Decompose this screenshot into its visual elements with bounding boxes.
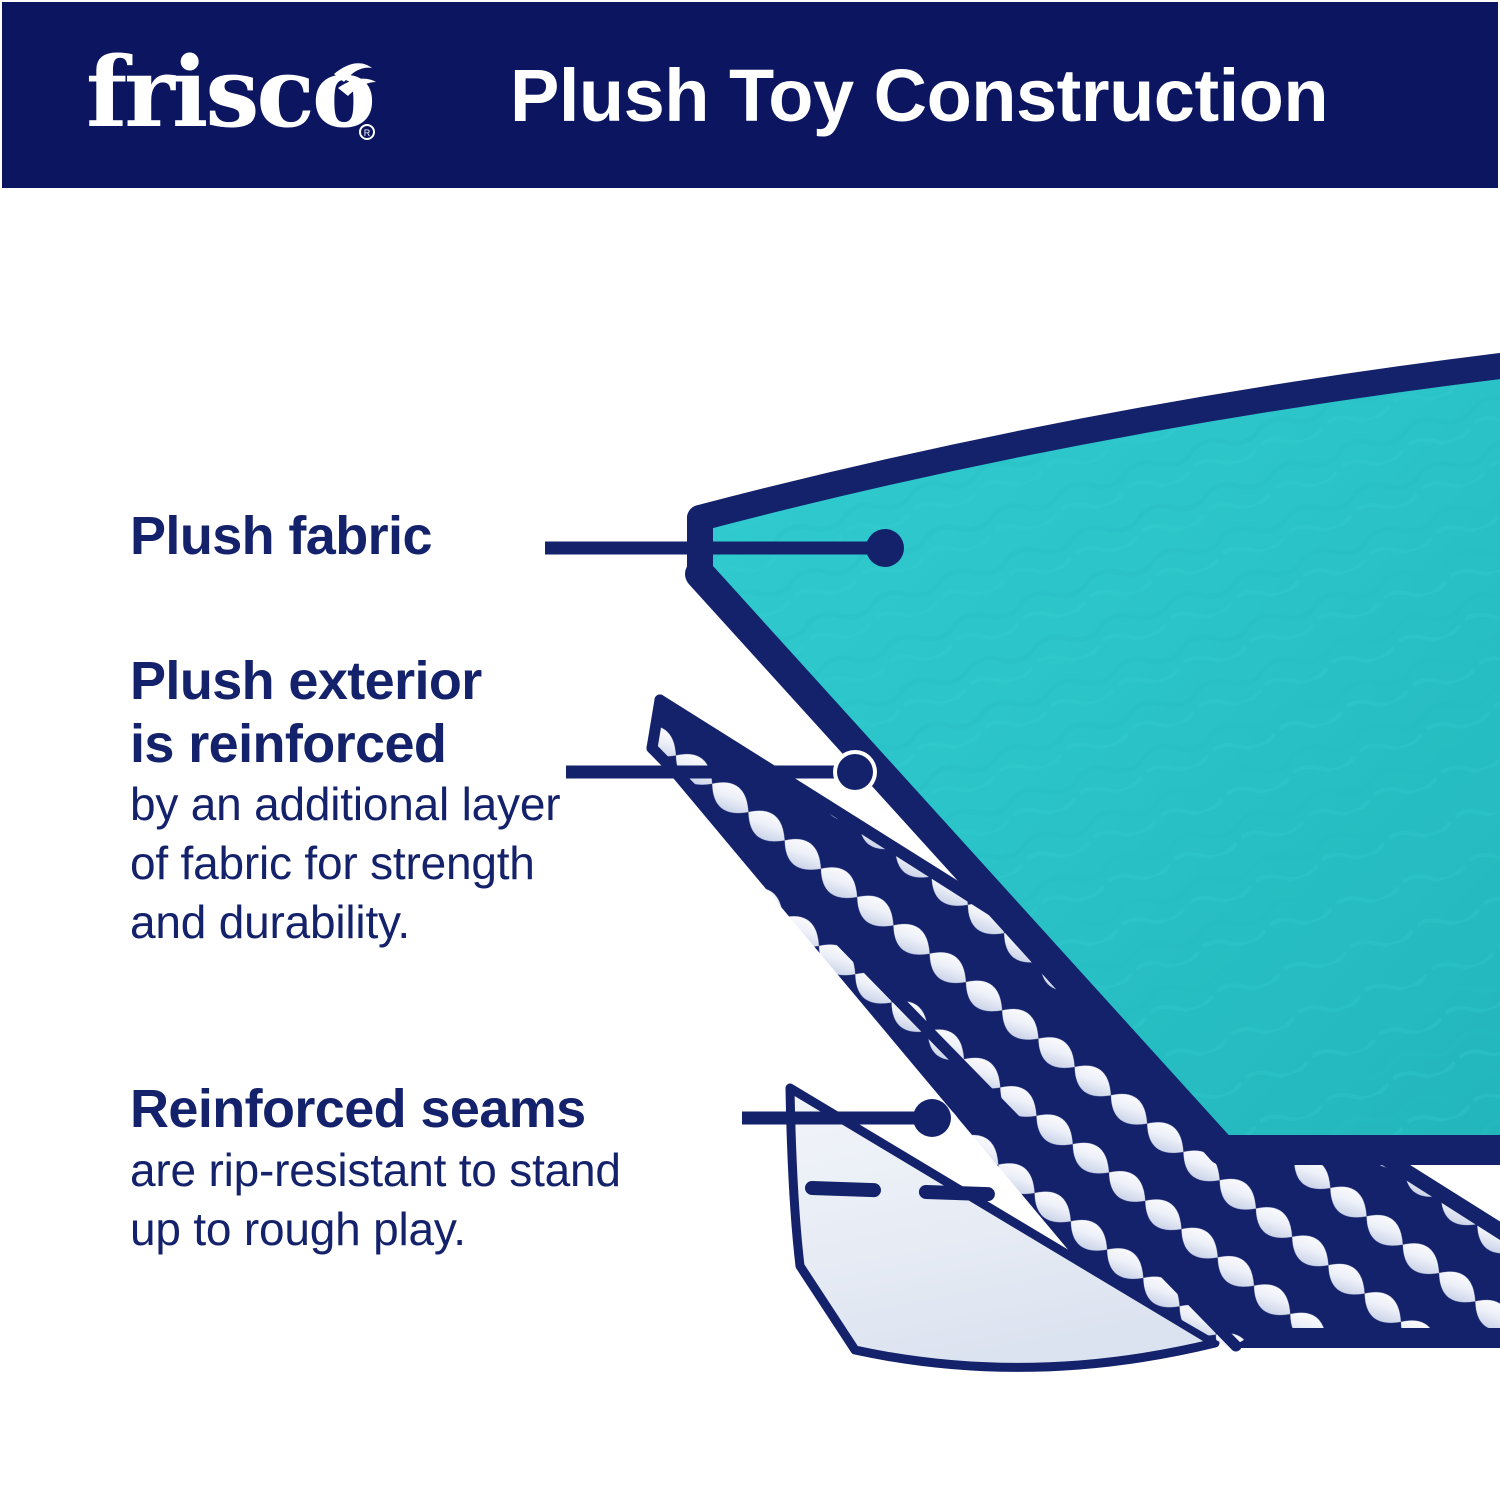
- plush-fabric-panel: [700, 366, 1500, 1150]
- registered-trademark-glyph: R: [364, 128, 371, 138]
- callout-body: are rip-resistant to stand up to rough p…: [130, 1141, 621, 1259]
- header-bar: frisco R Plush Toy Construction: [2, 2, 1498, 188]
- page-title: Plush Toy Construction: [510, 2, 1328, 188]
- callout-plush-exterior-reinforced: Plush exterior is reinforced by an addit…: [130, 650, 560, 952]
- callout-body: by an additional layer of fabric for str…: [130, 775, 560, 952]
- callout-reinforced-seams: Reinforced seams are rip-resistant to st…: [130, 1078, 621, 1258]
- frisco-logo: frisco R: [86, 40, 386, 150]
- callout-plush-fabric: Plush fabric: [130, 505, 432, 568]
- callout-heading: Plush exterior is reinforced: [130, 650, 560, 775]
- frisco-wordmark-text: frisco: [86, 40, 373, 149]
- callout-heading: Reinforced seams: [130, 1078, 621, 1141]
- infographic-page: frisco R Plush Toy Construction: [0, 0, 1500, 1500]
- callout-heading: Plush fabric: [130, 505, 432, 568]
